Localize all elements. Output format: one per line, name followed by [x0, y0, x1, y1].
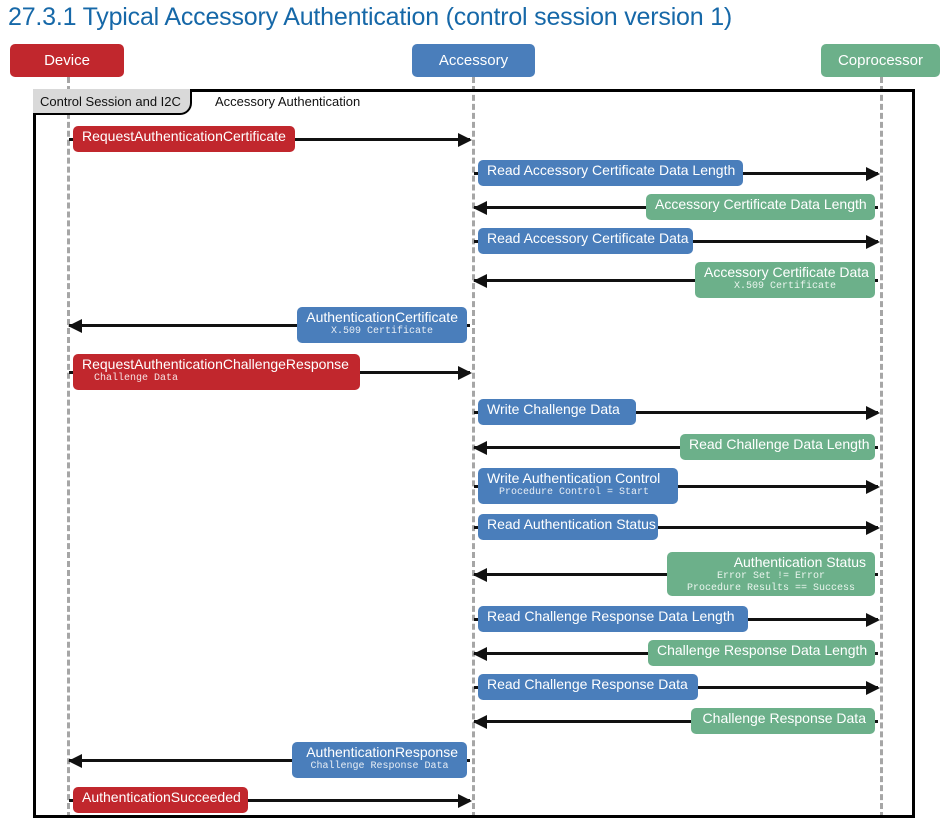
message-arrow-head — [473, 441, 487, 455]
message-label-m11: Read Authentication Status — [478, 514, 658, 540]
message-label-m18: AuthenticationSucceeded — [73, 787, 248, 813]
participant-accessory-label: Accessory — [439, 52, 508, 69]
message-title: Accessory Certificate Data — [704, 264, 866, 281]
message-arrow-head — [866, 521, 880, 535]
message-label-m8: Write Challenge Data — [478, 399, 636, 425]
participant-coprocessor: Coprocessor — [821, 44, 940, 77]
message-title: AuthenticationCertificate — [306, 309, 458, 326]
message-subtitle: Challenge Response Data — [301, 761, 458, 773]
message-label-m15: Read Challenge Response Data — [478, 674, 698, 700]
message-label-m3: Accessory Certificate Data Length — [646, 194, 875, 220]
message-label-m6: AuthenticationCertificateX.509 Certifica… — [297, 307, 467, 343]
message-arrow-head — [473, 715, 487, 729]
message-subtitle: Error Set != Error — [676, 571, 866, 583]
message-arrow-head — [68, 754, 82, 768]
message-arrow-head — [866, 613, 880, 627]
message-title: Read Challenge Response Data Length — [487, 608, 739, 625]
message-title: Challenge Response Data — [700, 710, 866, 727]
message-title: Read Accessory Certificate Data Length — [487, 162, 734, 179]
message-arrow-head — [473, 201, 487, 215]
message-label-m5: Accessory Certificate DataX.509 Certific… — [695, 262, 875, 298]
message-title: RequestAuthenticationCertificate — [82, 128, 286, 145]
participant-accessory: Accessory — [412, 44, 535, 77]
message-title: RequestAuthenticationChallengeResponse — [82, 356, 351, 373]
message-arrow-head — [866, 406, 880, 420]
message-arrow-head — [866, 235, 880, 249]
message-label-m16: Challenge Response Data — [691, 708, 875, 734]
message-title: Challenge Response Data Length — [657, 642, 866, 659]
message-label-m14: Challenge Response Data Length — [648, 640, 875, 666]
message-title: Write Challenge Data — [487, 401, 627, 418]
frame-operator-label: Control Session and I2C — [40, 94, 181, 109]
message-arrow-head — [473, 647, 487, 661]
participant-coprocessor-label: Coprocessor — [838, 52, 923, 69]
message-label-m9: Read Challenge Data Length — [680, 434, 875, 460]
message-arrow-head — [458, 794, 472, 808]
message-title: Write Authentication Control — [487, 470, 669, 487]
participant-device: Device — [10, 44, 124, 77]
frame-title: Accessory Authentication — [215, 93, 360, 111]
message-label-m2: Read Accessory Certificate Data Length — [478, 160, 743, 186]
message-title: Authentication Status — [676, 554, 866, 571]
message-label-m12: Authentication StatusError Set != ErrorP… — [667, 552, 875, 596]
message-label-m7: RequestAuthenticationChallengeResponseCh… — [73, 354, 360, 390]
message-label-m1: RequestAuthenticationCertificate — [73, 126, 295, 152]
message-label-m10: Write Authentication ControlProcedure Co… — [478, 468, 678, 504]
message-label-m4: Read Accessory Certificate Data — [478, 228, 693, 254]
message-title: Read Challenge Response Data — [487, 676, 689, 693]
message-arrow-head — [866, 681, 880, 695]
message-label-m17: AuthenticationResponseChallenge Response… — [292, 742, 467, 778]
message-title: AuthenticationResponse — [301, 744, 458, 761]
message-arrow-head — [866, 167, 880, 181]
message-arrow-head — [866, 480, 880, 494]
message-arrow-head — [473, 274, 487, 288]
message-subtitle-2: Procedure Results == Success — [676, 583, 866, 595]
participant-device-label: Device — [44, 52, 90, 69]
message-subtitle: X.509 Certificate — [306, 326, 458, 338]
message-label-m13: Read Challenge Response Data Length — [478, 606, 748, 632]
message-title: Read Challenge Data Length — [689, 436, 866, 453]
message-subtitle: Procedure Control = Start — [487, 487, 669, 499]
message-arrow-head — [458, 133, 472, 147]
frame-operator-tab: Control Session and I2C — [33, 89, 192, 115]
message-arrow-head — [458, 366, 472, 380]
message-title: Accessory Certificate Data Length — [655, 196, 866, 213]
message-title: Read Authentication Status — [487, 516, 649, 533]
message-arrow-head — [68, 319, 82, 333]
message-subtitle: Challenge Data — [82, 373, 351, 385]
message-title: Read Accessory Certificate Data — [487, 230, 684, 247]
message-arrow-head — [473, 568, 487, 582]
page-title: 27.3.1 Typical Accessory Authentication … — [8, 0, 732, 34]
message-subtitle: X.509 Certificate — [704, 281, 866, 293]
message-title: AuthenticationSucceeded — [82, 789, 239, 806]
